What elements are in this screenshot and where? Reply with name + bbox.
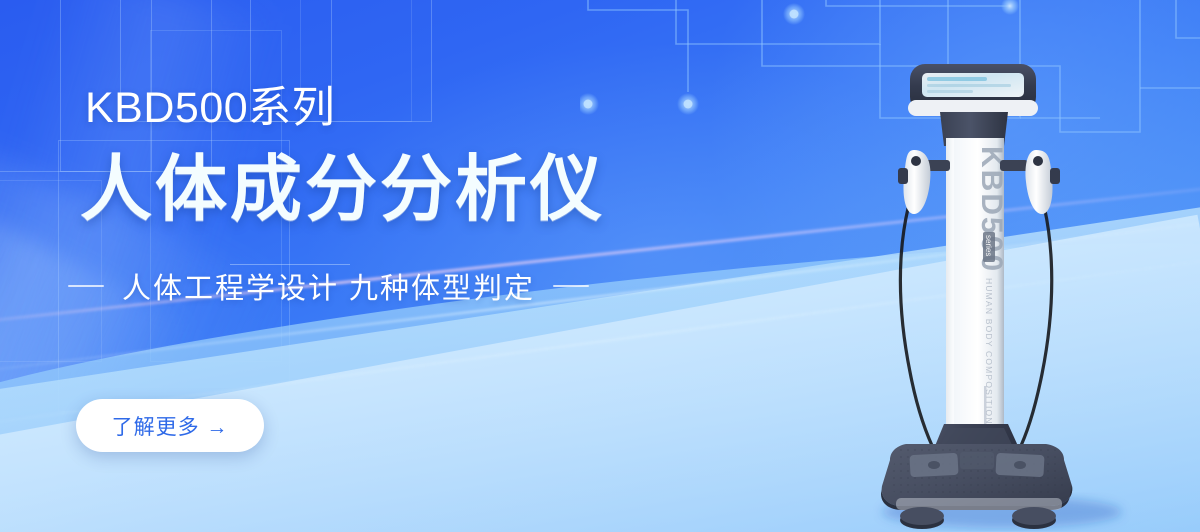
device-display-head: [908, 64, 1038, 116]
learn-more-label: 了解更多 →: [112, 411, 229, 441]
device-handle-right: [1025, 150, 1060, 214]
banner-copy: KBD500系列 人体成分分析仪 人体工程学设计 九种体型判定 了解更多 →: [0, 0, 700, 532]
subtitle-text: 人体工程学设计 九种体型判定: [122, 265, 535, 307]
eyebrow-text: KBD500系列: [85, 73, 335, 135]
svg-text:series: series: [984, 235, 993, 256]
learn-more-button[interactable]: 了解更多 →: [76, 399, 264, 452]
dash-right-icon: [553, 285, 589, 287]
device-series-badge: series: [983, 232, 995, 262]
page-title: 人体成分分析仪: [80, 130, 605, 235]
body-composition-analyzer-image: KBD500 series HUMAN BODY COMPOSITION ANA…: [836, 42, 1166, 532]
promo-banner: KBD500系列 人体成分分析仪 人体工程学设计 九种体型判定 了解更多 →: [0, 0, 1200, 532]
device-handle-left: [898, 150, 930, 214]
subtitle-row: 人体工程学设计 九种体型判定: [68, 265, 589, 307]
dash-left-icon: [68, 285, 104, 287]
